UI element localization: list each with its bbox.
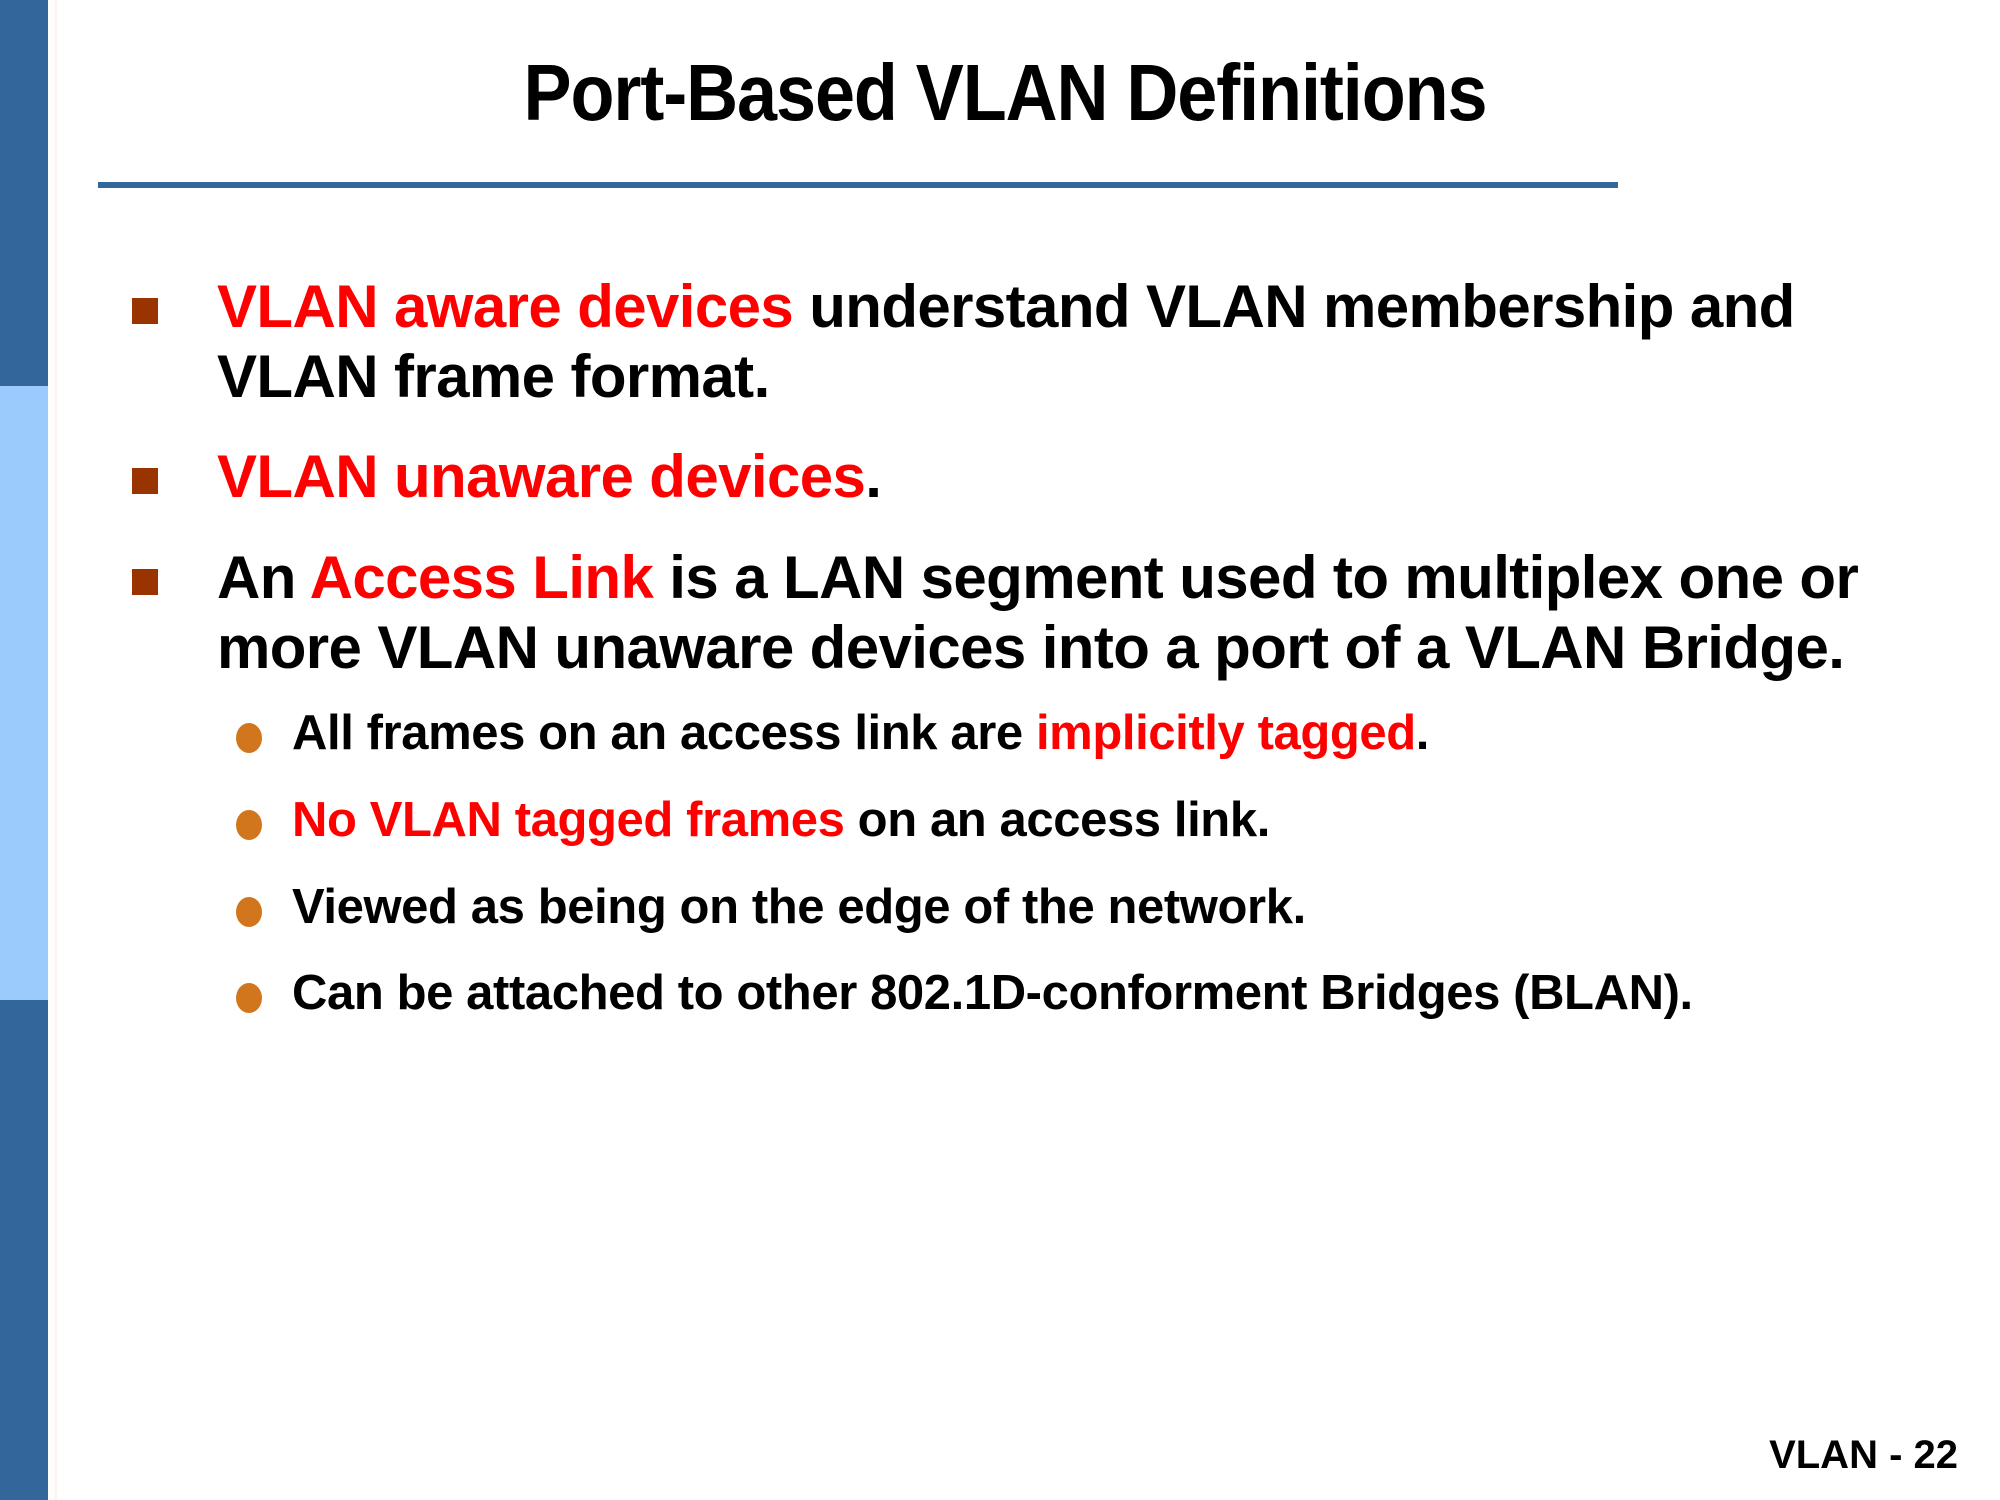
slide-canvas: Port-Based VLAN Definitions VLAN aware d… <box>0 0 2000 1500</box>
dot-bullet-icon <box>236 897 262 927</box>
bullet-text: No VLAN tagged frames on an access link. <box>292 793 1270 847</box>
bullet-text: Can be attached to other 802.1D-conforme… <box>292 966 1693 1020</box>
run-body: All frames on an access link are <box>292 706 1036 760</box>
bullet-level2-edge-of-network: Viewed as being on the edge of the netwo… <box>232 879 1932 936</box>
run-highlight: implicitly tagged <box>1036 706 1416 760</box>
run-body: . <box>1416 706 1429 760</box>
bullet-level1-access-link: An Access Link is a LAN segment used to … <box>132 543 1917 683</box>
slide-title: Port-Based VLAN Definitions <box>155 52 1856 134</box>
bullet-level2-implicitly-tagged: All frames on an access link are implici… <box>232 705 1932 762</box>
dot-bullet-icon <box>236 810 262 840</box>
bullet-level1-vlan-aware-devices: VLAN aware devices understand VLAN membe… <box>132 272 1917 412</box>
run-highlight: VLAN aware devices <box>217 273 793 340</box>
run-body: Viewed as being on the edge of the netwo… <box>292 880 1306 934</box>
bullet-text: All frames on an access link are implici… <box>292 706 1429 760</box>
run-body: Can be attached to other 802.1D-conforme… <box>292 966 1693 1020</box>
run-highlight: No VLAN tagged frames <box>292 793 844 847</box>
run-highlight: VLAN unaware devices <box>217 443 865 510</box>
sub-bullet-list: All frames on an access link are implici… <box>232 705 1932 1022</box>
bullet-level2-attached-to-8021d-bridges: Can be attached to other 802.1D-conforme… <box>232 965 1932 1022</box>
square-bullet-icon <box>132 468 158 494</box>
title-underline-rule <box>98 182 1618 188</box>
dot-bullet-icon <box>236 983 262 1013</box>
sidebar-segment-middle <box>0 386 48 1000</box>
sidebar-hairline <box>55 0 57 1500</box>
run-highlight: Access Link <box>310 544 654 611</box>
bullet-text: VLAN unaware devices. <box>217 443 881 510</box>
sidebar-segment-bottom <box>0 1000 48 1500</box>
left-decorative-sidebar <box>0 0 48 1500</box>
bullet-level1-vlan-unaware-devices: VLAN unaware devices. <box>132 442 1917 512</box>
run-body: on an access link. <box>844 793 1269 847</box>
bullet-text: VLAN aware devices understand VLAN membe… <box>217 273 1795 410</box>
slide-body: VLAN aware devices understand VLAN membe… <box>132 272 1932 1052</box>
bullet-text: An Access Link is a LAN segment used to … <box>217 544 1858 681</box>
slide-footer-page-label: VLAN - 22 <box>1769 1433 1958 1478</box>
square-bullet-icon <box>132 569 158 595</box>
run-body: . <box>865 443 881 510</box>
bullet-text: Viewed as being on the edge of the netwo… <box>292 880 1306 934</box>
sidebar-segment-top <box>0 0 48 386</box>
run-body: An <box>217 544 310 611</box>
bullet-level2-no-vlan-tagged-frames: No VLAN tagged frames on an access link. <box>232 792 1932 849</box>
dot-bullet-icon <box>236 723 262 753</box>
square-bullet-icon <box>132 298 158 324</box>
